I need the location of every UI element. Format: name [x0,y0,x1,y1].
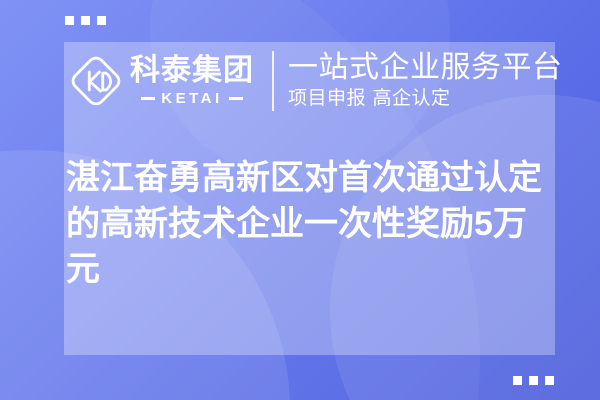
decorative-dot [97,16,106,25]
decorative-dot [545,376,554,385]
promotional-banner: 科泰集团 KETAI 一站式企业服务平台 项目申报 高企认定 湛江奋勇高新区对首… [0,0,600,400]
brand-name-cn: 科泰集团 [130,56,254,86]
decorative-dot [81,16,90,25]
decorative-dots-bottom-right [513,376,554,385]
banner-header: 科泰集团 KETAI 一站式企业服务平台 项目申报 高企认定 [68,48,563,114]
brand-name-en-row: KETAI [130,91,254,106]
headline-text: 湛江奋勇高新区对首次通过认定的高新技术企业一次性奖励5万元 [66,156,550,293]
ketai-diamond-monogram-icon [68,53,124,109]
dash-right-icon [229,97,243,100]
decorative-dot [529,376,538,385]
decorative-dots-top-left [65,16,106,25]
decorative-dot [65,16,74,25]
slogan-block: 一站式企业服务平台 项目申报 高企认定 [288,52,563,110]
brand-name-en: KETAI [161,91,222,106]
slogan-secondary: 项目申报 高企认定 [288,88,563,110]
vertical-divider [272,51,274,111]
slogan-primary: 一站式企业服务平台 [288,52,563,84]
dash-left-icon [141,97,155,100]
decorative-dot [513,376,522,385]
logo-wordmark: 科泰集团 KETAI [130,56,254,106]
